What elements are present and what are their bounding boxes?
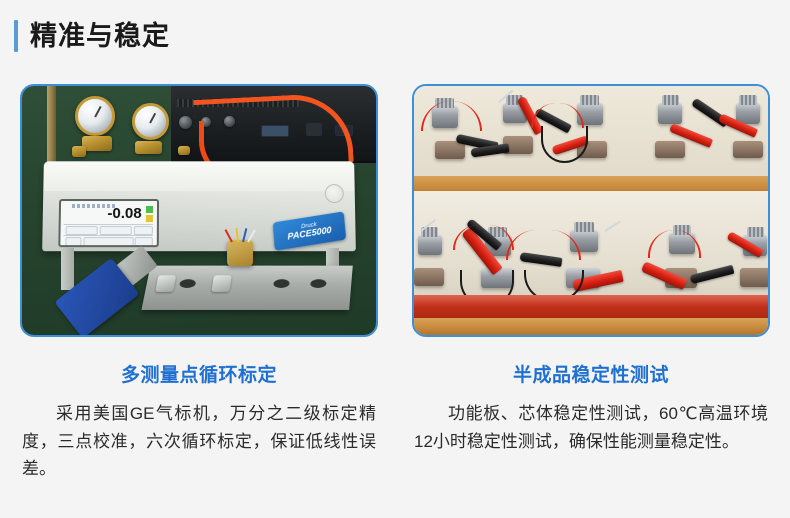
- display-field-right: [134, 226, 154, 234]
- sensor-cap: [739, 95, 756, 105]
- sensor-cap: [574, 222, 594, 232]
- manifold-fitting: [155, 275, 176, 292]
- brass-regulator-right: [135, 141, 162, 154]
- sensor-base: [414, 268, 444, 286]
- calibration-manifold-block: [141, 266, 353, 310]
- display-primary-value: -0.08: [108, 205, 142, 222]
- display-next-button: [135, 236, 153, 245]
- manifold-fitting: [211, 275, 232, 292]
- instrument-display: -0.08: [58, 198, 159, 247]
- ge-logo-icon: [325, 184, 344, 203]
- sensor-base: [733, 141, 763, 158]
- display-setpoint-field: [84, 236, 134, 245]
- sensor-cap: [662, 95, 679, 105]
- instrument-brand-badge: Druck PACE5000: [273, 211, 347, 250]
- pressure-gauge-left: [75, 96, 115, 136]
- instrument-leg-left: [61, 248, 74, 290]
- brass-valve-right: [178, 146, 190, 155]
- sensor-cap: [747, 227, 764, 237]
- page-title: 精准与稳定: [14, 16, 170, 56]
- heading-accent-bar: [14, 20, 18, 52]
- cards-row: -0.08: [0, 84, 790, 483]
- brand-model-line: PACE5000: [288, 226, 333, 242]
- calibration-caption-title: 多测量点循环标定: [20, 360, 378, 387]
- lower-shelf-edge: [414, 318, 768, 335]
- semi-finished-stability-test-photo: [414, 86, 768, 335]
- instrument-top-panel: [44, 161, 355, 191]
- sensor-unit: [418, 235, 442, 255]
- pace5000-instrument: -0.08: [42, 161, 355, 251]
- multi-point-calibration-photo: -0.08: [22, 86, 376, 335]
- display-status-green-indicator: [146, 206, 153, 213]
- display-middle-row: [64, 224, 153, 235]
- heading-text: 精准与稳定: [30, 23, 170, 50]
- stability-caption-title: 半成品稳定性测试: [412, 360, 770, 387]
- lower-shelf-surface: [414, 295, 768, 317]
- rack-knob: [179, 116, 192, 129]
- sensor-base: [740, 268, 768, 287]
- manifold-port-hole: [273, 280, 290, 289]
- stability-caption-body: 功能板、芯体稳定性测试，60℃高温环境12小时稳定性测试，确保性能测量稳定性。: [412, 400, 770, 455]
- display-status-yellow-indicator: [146, 215, 153, 222]
- display-field-left: [66, 226, 98, 234]
- calibration-photo-frame: -0.08: [20, 84, 378, 337]
- sensor-base: [655, 141, 685, 158]
- feature-card-stability: 半成品稳定性测试 功能板、芯体稳定性测试，60℃高温环境12小时稳定性测试，确保…: [412, 84, 770, 483]
- manifold-port-hole: [179, 280, 197, 289]
- sensor-cap: [580, 95, 599, 105]
- display-field-mid: [100, 226, 132, 234]
- stability-photo-frame: [412, 84, 770, 337]
- pressure-gauge-right: [132, 103, 169, 140]
- sensor-unit: [658, 103, 682, 124]
- sensor-under-test: [227, 240, 253, 266]
- manifold-port-hole: [310, 280, 327, 289]
- calibration-caption-body: 采用美国GE气标机，万分之二级标定精度，三点校准，六次循环标定，保证低线性误差。: [20, 400, 378, 483]
- display-bottom-row: [64, 234, 153, 245]
- brass-valve-left: [72, 146, 86, 157]
- display-back-button: [66, 236, 82, 245]
- brass-regulator-left: [82, 136, 112, 151]
- feature-card-calibration: -0.08: [20, 84, 378, 483]
